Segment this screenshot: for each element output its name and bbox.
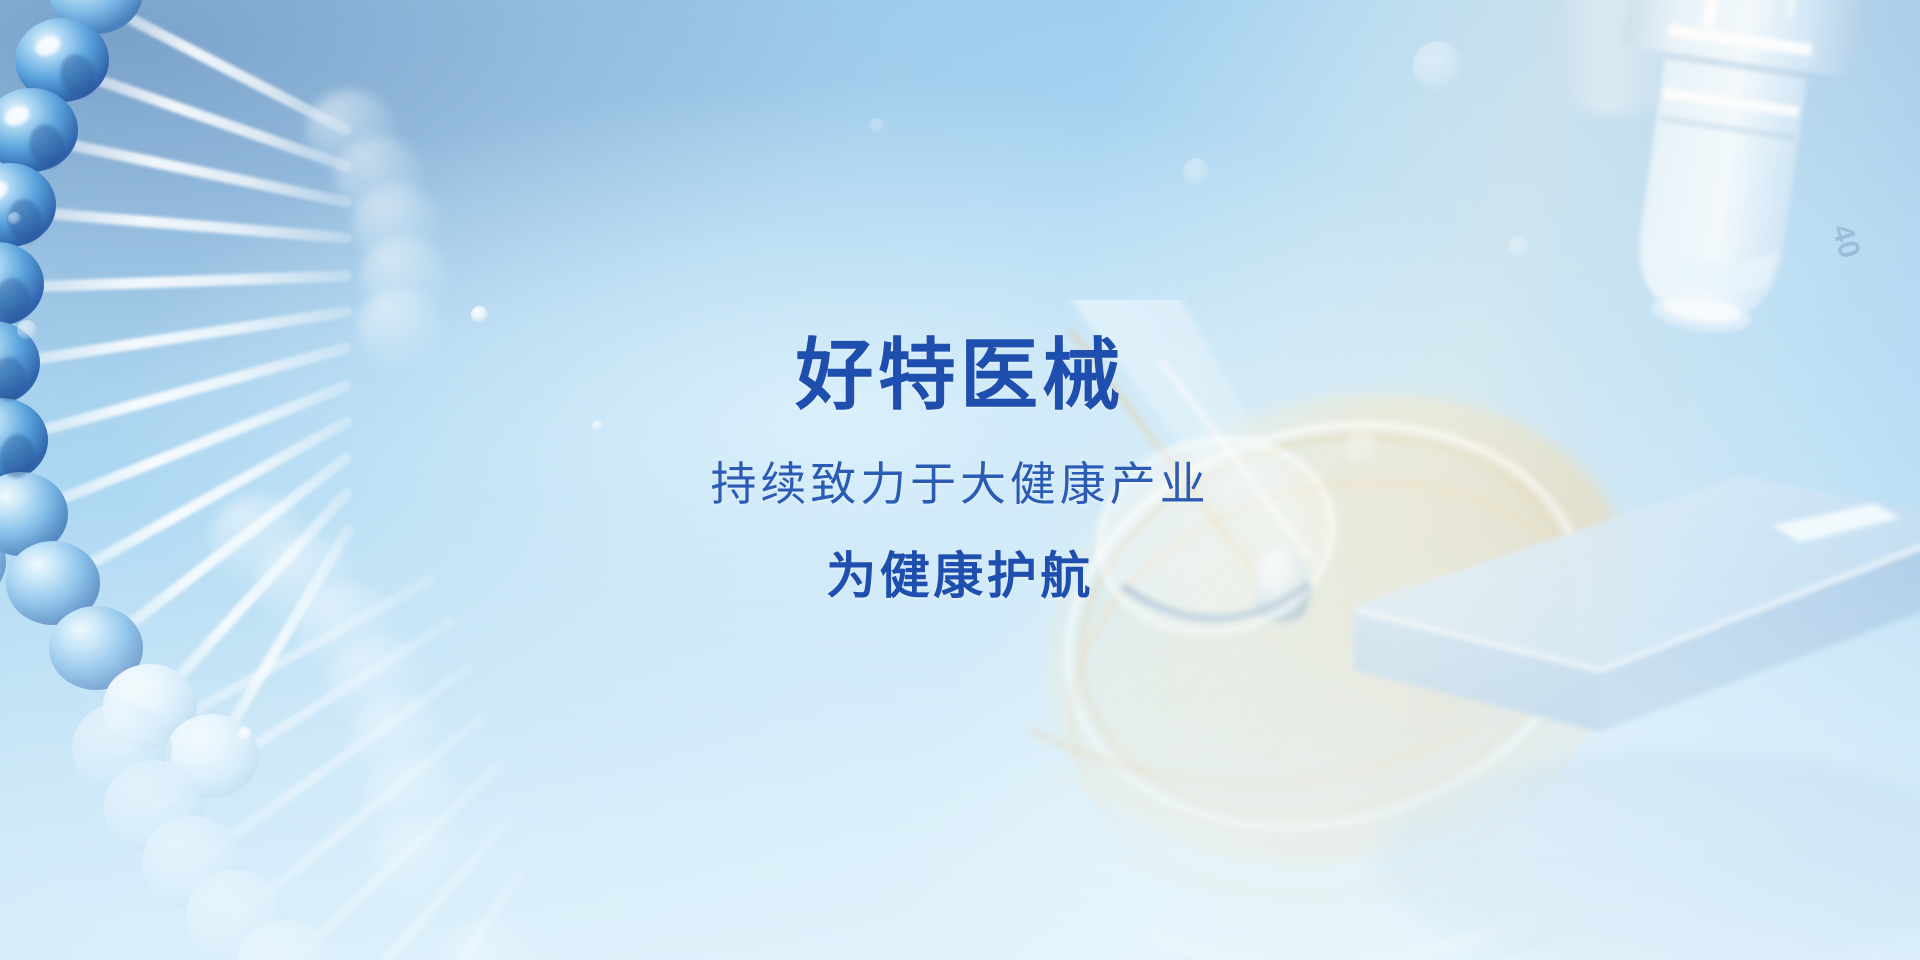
hero-copy-block: 好特医械 持续致力于大健康产业 为健康护航 — [0, 336, 1920, 602]
page-title: 好特医械 — [0, 336, 1920, 416]
hero-banner: 40 — [0, 0, 1920, 960]
hero-subtitle: 持续致力于大健康产业 — [0, 460, 1920, 508]
hero-tagline: 为健康护航 — [0, 550, 1920, 603]
